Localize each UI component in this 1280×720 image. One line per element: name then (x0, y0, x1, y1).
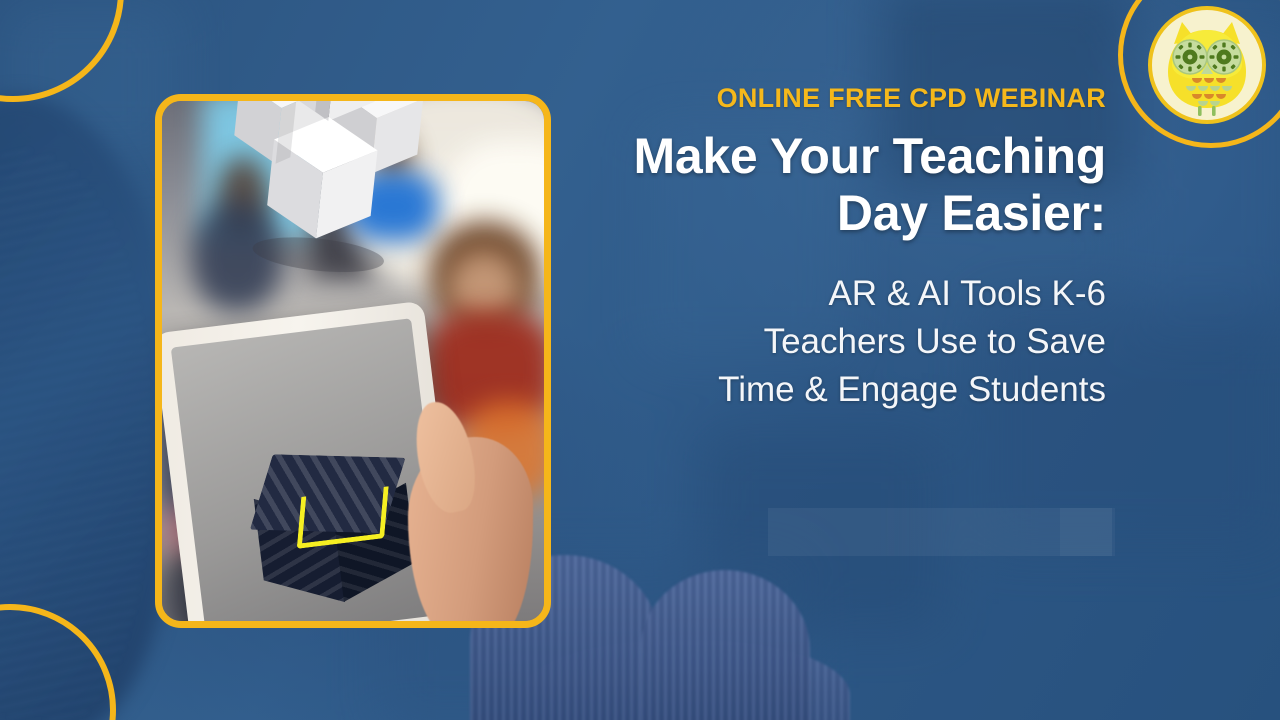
headline-line-2: Day Easier: (600, 185, 1106, 242)
photo-card (155, 94, 551, 628)
webinar-promo-banner: ONLINE FREE CPD WEBINAR Make Your Teachi… (0, 0, 1280, 720)
eyebrow-label: ONLINE FREE CPD WEBINAR (600, 84, 1106, 114)
ar-cube-cluster (197, 101, 457, 304)
owl-logo[interactable] (1148, 6, 1266, 124)
subtitle: AR & AI Tools K-6 Teachers Use to Save T… (600, 270, 1106, 415)
subtitle-line-2: Teachers Use to Save (600, 318, 1106, 366)
sweater-texture-right (640, 570, 810, 720)
page-title: Make Your Teaching Day Easier: (600, 128, 1106, 242)
faded-text-placeholder-secondary (1060, 508, 1115, 556)
headline-line-1: Make Your Teaching (600, 128, 1106, 185)
classroom-photo (162, 101, 544, 621)
subtitle-line-1: AR & AI Tools K-6 (600, 270, 1106, 318)
hand-holding-tablet (394, 401, 544, 621)
text-column: ONLINE FREE CPD WEBINAR Make Your Teachi… (600, 84, 1106, 415)
subtitle-line-3: Time & Engage Students (600, 366, 1106, 414)
